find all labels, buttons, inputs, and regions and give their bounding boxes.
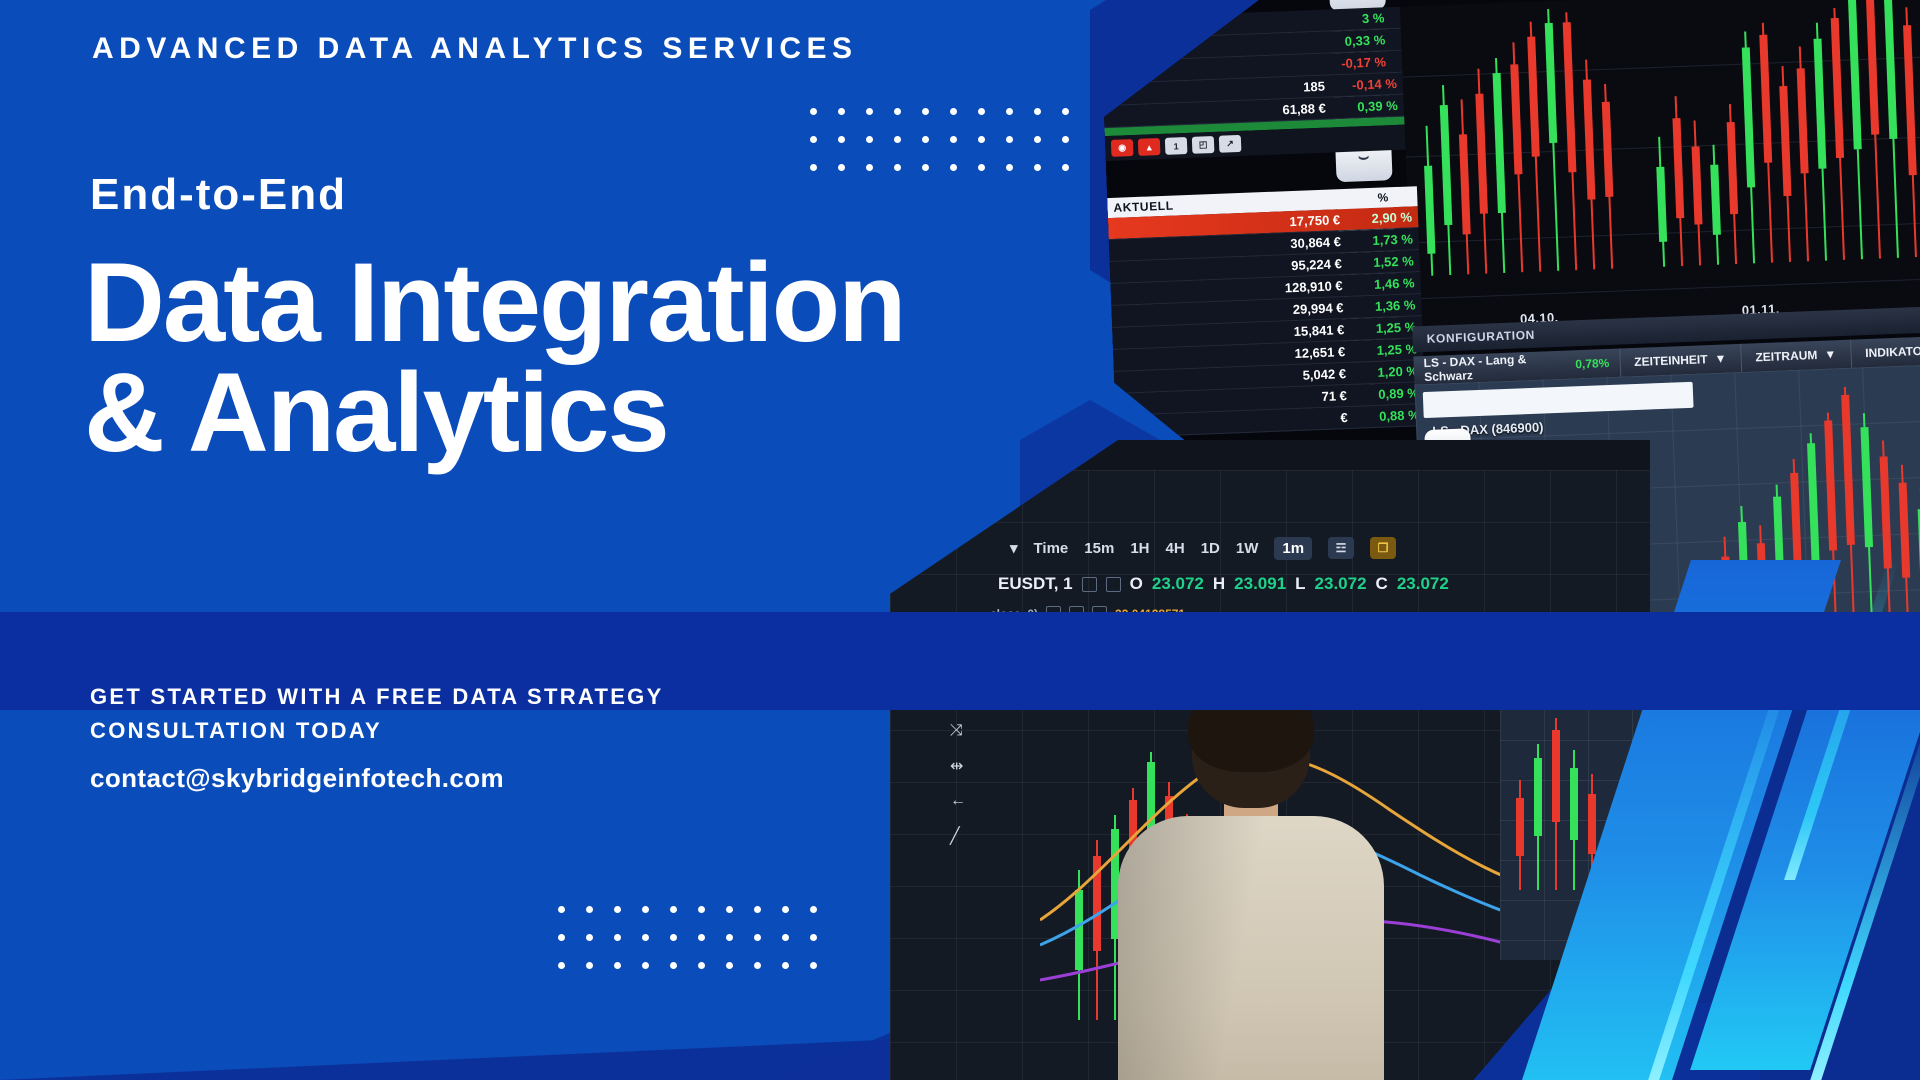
settings-dot-icon[interactable]	[1106, 577, 1121, 592]
eye-icon[interactable]	[1082, 577, 1097, 592]
ohlc-high-value: 23.091	[1234, 574, 1286, 594]
marketing-banner: 04.10. 01.11. 01.12. CRV % ⌕ // ⌣ aΛ BUY…	[0, 0, 1920, 1080]
page-title: Data Integration & Analytics	[84, 248, 984, 468]
change-pct: 0,39 %	[1335, 98, 1398, 115]
cta-line-1: GET STARTED WITH A FREE DATA STRATEGY	[90, 684, 664, 709]
expand-icon[interactable]: ↗	[1219, 135, 1242, 153]
change-pct: 2,90 %	[1350, 209, 1413, 226]
contact-email[interactable]: contact@skybridgeinfotech.com	[90, 763, 504, 794]
pattern-tool-icon[interactable]: ⤨	[950, 722, 966, 740]
change-pct: 1,46 %	[1352, 275, 1415, 292]
headline-line-1: Data Integration	[84, 240, 905, 365]
chevron-down-icon: ▼	[1824, 347, 1836, 361]
ohlc-low-value: 23.072	[1315, 574, 1367, 594]
change-pct: 1,52 %	[1351, 253, 1414, 270]
change-pct: 0,88 %	[1357, 407, 1420, 424]
menu-item-indikator[interactable]: INDIKATOR ▼	[1850, 335, 1920, 367]
change-pct: 1,25 %	[1354, 319, 1417, 336]
analyst-person	[1100, 690, 1400, 1080]
record-icon[interactable]: ◉	[1111, 139, 1134, 157]
eyebrow-text: End-to-End	[90, 170, 347, 220]
change-pct: 1,25 %	[1355, 341, 1418, 358]
tab-4h[interactable]: 4H	[1166, 540, 1185, 557]
window-icon[interactable]: ◰	[1192, 136, 1215, 154]
menu-label: INDIKATOR	[1865, 344, 1920, 361]
dot-grid-top	[810, 108, 1090, 192]
timeframe-toolbar[interactable]: ▾ Time 15m 1H 4H 1D 1W 1m ☲ ❐	[890, 530, 1650, 566]
chevron-down-icon: ▼	[1714, 351, 1726, 365]
measure-tool-icon[interactable]: ⇹	[950, 756, 966, 776]
menu-item-zeitraum[interactable]: ZEITRAUM ▼	[1740, 340, 1851, 372]
change-pct: 0,89 %	[1357, 385, 1420, 402]
ohlc-close-key: C	[1376, 574, 1388, 594]
headline-line-2: & Analytics	[84, 358, 984, 468]
tab-1d[interactable]: 1D	[1201, 540, 1220, 557]
column-header-percent: %	[1355, 189, 1411, 205]
arrow-tool-icon[interactable]: ←	[950, 792, 966, 810]
cta-text: GET STARTED WITH A FREE DATA STRATEGY CO…	[90, 680, 664, 748]
ohlc-low-key: L	[1295, 574, 1305, 594]
subtitle-text: ADVANCED DATA ANALYTICS SERVICES	[92, 0, 858, 98]
tab-1w[interactable]: 1W	[1236, 540, 1259, 557]
alert-icon[interactable]: ▲	[1138, 138, 1161, 156]
menu-label: ZEITEINHEIT	[1634, 352, 1708, 369]
layout-icon[interactable]: ❐	[1370, 537, 1396, 559]
tab-1m-selected[interactable]: 1m	[1274, 537, 1312, 560]
tab-15m[interactable]: 15m	[1084, 540, 1114, 557]
dot-grid-bottom	[558, 906, 838, 990]
change-pct: 1,36 %	[1353, 297, 1416, 314]
one-icon[interactable]: 1	[1165, 137, 1188, 155]
symbol-name: EUSDT, 1	[998, 574, 1073, 594]
ruler-tool-icon[interactable]: ╱	[950, 826, 966, 846]
chart-change-pct: 0,78%	[1575, 356, 1610, 371]
change-pct: 1,20 %	[1356, 363, 1419, 380]
chevron-down-icon[interactable]: ▾	[1010, 539, 1018, 557]
settings-icon[interactable]: ☲	[1328, 537, 1354, 559]
drawing-tools-sidebar[interactable]: T ⤨ ⇹ ← ╱	[950, 688, 966, 846]
tab-1h[interactable]: 1H	[1130, 540, 1149, 557]
candlestick-chart-top: 04.10. 01.11. 01.12.	[1400, 0, 1920, 338]
symbol-ohlc-row: EUSDT, 1 O 23.072 H 23.091 L 23.072 C 23…	[998, 574, 1449, 594]
change-pct: -0,14 %	[1335, 76, 1398, 93]
ohlc-open-key: O	[1130, 574, 1143, 594]
change-pct: 1,73 %	[1351, 231, 1414, 248]
ohlc-high-key: H	[1213, 574, 1225, 594]
tab-time[interactable]: Time	[1034, 540, 1069, 557]
ohlc-close-value: 23.072	[1397, 574, 1449, 594]
price-table: AKTUELL % 17,750 € 2,90 % 30,864 € 1,73 …	[1107, 186, 1426, 438]
cta-line-2: CONSULTATION TODAY	[90, 718, 382, 743]
ohlc-open-value: 23.072	[1152, 574, 1204, 594]
menu-label: ZEITRAUM	[1755, 348, 1817, 364]
